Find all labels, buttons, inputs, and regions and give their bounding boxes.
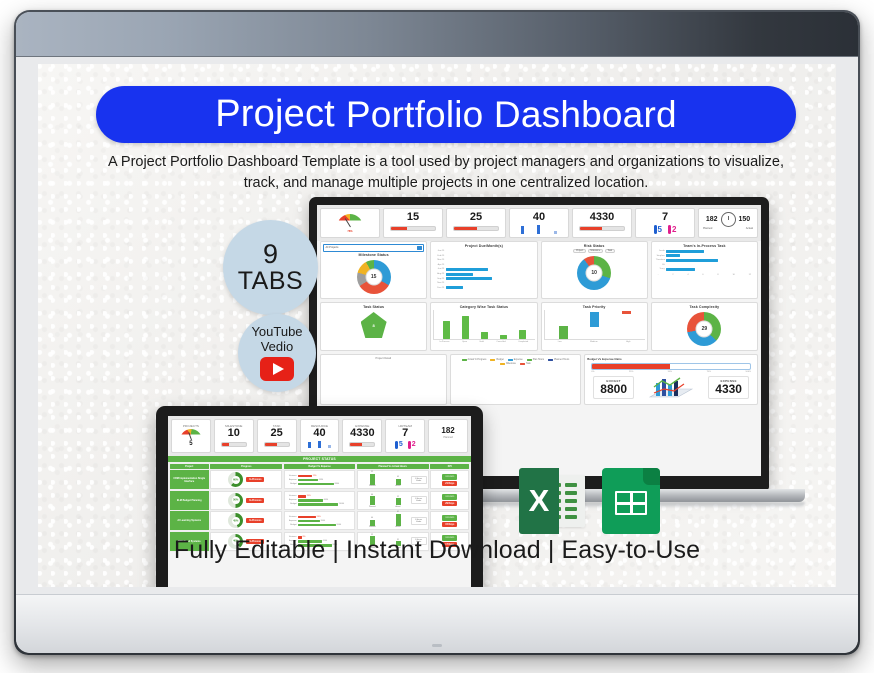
- task-status-shape: 8: [361, 312, 387, 338]
- panel-project-due: Project Due/Month(s) Jan-25 Feb-25 Mar-2…: [430, 241, 537, 300]
- progress-tag: In-Process: [246, 477, 264, 482]
- planned-hours: 182: [706, 216, 718, 223]
- milestone-donut-chart: 15: [323, 258, 424, 296]
- table-row[interactable]: 12/1/2025 15 Days: [430, 511, 469, 530]
- female-count: 2: [412, 441, 416, 448]
- task-complexity-chart: 29: [654, 310, 755, 348]
- gauge-icon: [337, 214, 363, 227]
- kpi-card[interactable]: 78%: [320, 208, 380, 238]
- hours-tag: 0 Hours Under: [411, 496, 427, 504]
- male-count: 5: [399, 441, 403, 448]
- female-count: 2: [672, 225, 676, 234]
- kpi-card[interactable]: 40: [509, 208, 569, 238]
- kpi-card[interactable]: MILESTONE 10: [214, 419, 254, 453]
- tagline: Fully Editable | Instant Download | Easy…: [38, 536, 836, 565]
- budget-expense-row: BUDGET 8800: [587, 373, 755, 402]
- panel-detail: Project Detail: [320, 354, 447, 405]
- progress-value: 40%: [233, 540, 238, 543]
- female-icon: [408, 441, 411, 449]
- table-row[interactable]: Variance24% Expense3900 Budget9500: [284, 511, 356, 530]
- kpi-value: 25: [449, 212, 503, 224]
- table-row[interactable]: 44Planned 61Actual 0 Hours Under: [357, 511, 429, 530]
- task-status-chart: 8: [323, 310, 424, 340]
- donut-center-value: 15: [371, 274, 377, 280]
- kpi-value: 5: [174, 441, 208, 447]
- laptop-panel-row-1: All Projects Milestone Status 15: [317, 241, 761, 303]
- table-row[interactable]: Variance19% Expense4650 Budget11000: [284, 491, 356, 510]
- kpi-value: 7: [388, 428, 422, 440]
- monitor-top-bezel: [16, 12, 858, 57]
- risk-donut-chart: 10: [544, 254, 645, 292]
- goal-date: 12/1/2025: [442, 494, 457, 500]
- kpi-progress-bar: [221, 442, 247, 447]
- table-row[interactable]: ELM Budget Planning: [170, 491, 209, 510]
- panel-title: Project Due/Month(s): [433, 244, 534, 248]
- donut-ring: 10: [577, 256, 611, 290]
- table-row[interactable]: 66Planned 52Actual 0 Hours Under: [357, 491, 429, 510]
- kpi-value: 7: [638, 212, 692, 224]
- clock-icon: [721, 212, 736, 227]
- youtube-line2: Vedio: [261, 340, 294, 355]
- panel-task-complexity: Task Complexity 29: [651, 302, 758, 351]
- project-selector[interactable]: All Projects: [323, 244, 424, 252]
- kpi-sublabel: Planned: [431, 436, 465, 439]
- legend-item: Plan Hours: [527, 359, 544, 361]
- table-row[interactable]: 12/1/2025 21 Days: [430, 470, 469, 489]
- progress-ring: 60%: [228, 472, 243, 487]
- legend-item: Budget: [490, 359, 503, 361]
- panel-title: Milestone Status: [323, 253, 424, 257]
- legend-item: Actual % Progress: [462, 359, 487, 361]
- radio-milestone[interactable]: Milestone: [588, 249, 603, 254]
- chart-illustration-icon: [648, 375, 694, 401]
- kpi-minibars: [512, 224, 566, 234]
- column-header: Budget Vs Expense: [284, 464, 356, 469]
- actual-hours: 150: [739, 216, 751, 223]
- excel-icon: X: [519, 468, 585, 534]
- column-header: Project: [170, 464, 209, 469]
- kpi-value: 4330: [575, 212, 629, 224]
- progress-tag: In-Process: [246, 518, 264, 523]
- kpi-card[interactable]: 7 5 2: [635, 208, 695, 238]
- kpi-progress-bar: [264, 442, 290, 447]
- panel-task-status: Task Status 8: [320, 302, 427, 351]
- panel-task-priority: Task Priority LowMediumHigh: [541, 302, 648, 351]
- panel-category-task: Category Wise Task Status: [430, 302, 537, 351]
- kpi-value: 40: [512, 212, 566, 224]
- table-row[interactable]: 12/1/2025 29 Days: [430, 491, 469, 510]
- column-header: Planned Vs Actual Hours: [357, 464, 429, 469]
- male-icon: [395, 441, 398, 449]
- title-bold: Project: [215, 93, 335, 136]
- laptop-bottom-row: Project Detail Actual % Progress Budget …: [317, 354, 761, 408]
- expense-box: EXPENSE 4330: [708, 376, 749, 399]
- kpi-progress-bar: [579, 226, 625, 231]
- column-header: KPI: [430, 464, 469, 469]
- risk-scope-options[interactable]: Project Milestone Task: [544, 249, 645, 254]
- page-title: Project Portfolio Dashboard: [96, 86, 796, 143]
- kpi-card[interactable]: 182 150 Planned Actua: [698, 208, 758, 238]
- kpi-progress-bar: [453, 226, 499, 231]
- kpi-value: 25: [260, 428, 294, 440]
- tabs-count: 9: [263, 241, 278, 268]
- donut-center-value: 29: [702, 326, 708, 332]
- excel-letter: X: [519, 468, 559, 534]
- kpi-days: 21 Days: [442, 481, 457, 486]
- kpi-card[interactable]: TASK 25: [257, 419, 297, 453]
- tabs-label: TABS: [238, 268, 303, 294]
- chart-legend: Actual % Progress Budget Expense Plan Ho…: [453, 357, 579, 366]
- category-task-chart: [433, 310, 534, 340]
- kpi-card[interactable]: 4330: [572, 208, 632, 238]
- poster-screen: Project Portfolio Dashboard A Project Po…: [38, 64, 836, 587]
- kpi-minibars: [303, 440, 337, 448]
- page-description: A Project Portfolio Dashboard Template i…: [100, 152, 792, 193]
- goal-date: 12/1/2025: [442, 474, 457, 480]
- kpi-card[interactable]: PROJECTS 5: [171, 419, 211, 453]
- progress-tag: In-Process: [246, 498, 264, 503]
- kpi-value: 10: [217, 428, 251, 440]
- progress-value: 60%: [233, 478, 238, 481]
- panel-title: Team's In-Process Task: [654, 244, 755, 248]
- panel-budget-expense: Budget Vs Expense Ratio 0% 25% 50% 75% 1…: [584, 354, 758, 405]
- legend-item: Task: [520, 363, 531, 365]
- team-task-chart: Jacob Stephen Theodore Eli Tracy -246810…: [654, 249, 755, 277]
- project-due-chart: Jan-25 Feb-25 Mar-25 Apr-25 Jun-25 Aug-2…: [433, 249, 534, 291]
- budget-box: BUDGET 8800: [593, 376, 634, 399]
- file-format-icons: X: [519, 468, 660, 534]
- male-count: 5: [658, 225, 662, 234]
- legend-item: Milestone: [500, 363, 516, 365]
- kpi-value: 182: [431, 427, 465, 435]
- female-icon: [668, 225, 671, 234]
- table-row[interactable]: CRM Implementation Single Interface: [170, 470, 209, 489]
- kpi-days: 29 Days: [442, 501, 457, 506]
- legend-item: Expense: [508, 359, 523, 361]
- radio-task[interactable]: Task: [605, 249, 615, 254]
- donut-ring: 29: [687, 312, 721, 346]
- table-row[interactable]: AI Learning Systems: [170, 511, 209, 530]
- kpi-value: 15: [386, 212, 440, 224]
- table-row[interactable]: 60% In-Process: [210, 470, 282, 489]
- kpi-card[interactable]: 15: [383, 208, 443, 238]
- table-row[interactable]: Variance11% Expense4330 Budget8800: [284, 470, 356, 489]
- kpi-gauge-value: 78%: [323, 230, 377, 233]
- kpi-card[interactable]: EXPENSE 4330: [342, 419, 382, 453]
- panel-legend: Actual % Progress Budget Expense Plan Ho…: [450, 354, 582, 405]
- progress-value: 45%: [233, 519, 238, 522]
- kpi-card[interactable]: 25: [446, 208, 506, 238]
- hours-tag: 0 Hours Under: [411, 476, 427, 484]
- chevron-down-icon: [417, 246, 422, 250]
- title-light: Portfolio Dashboard: [346, 94, 677, 136]
- budget-value: 8800: [600, 383, 627, 396]
- panel-title: Budget Vs Expense Ratio: [587, 357, 755, 361]
- badge-youtube[interactable]: YouTube Vedio: [238, 314, 316, 392]
- laptop-kpi-row: 78% 15 25: [317, 205, 761, 241]
- project-status-title: PROJECT STATUS: [168, 456, 471, 463]
- donut-ring: 15: [357, 260, 391, 294]
- youtube-line1: YouTube: [251, 325, 302, 340]
- table-row[interactable]: 45% In-Process: [210, 511, 282, 530]
- project-selector-value: All Projects: [326, 246, 339, 249]
- progress-ring: 45%: [228, 513, 243, 528]
- kpi-value: 40: [303, 428, 337, 440]
- poster-canvas: Project Portfolio Dashboard A Project Po…: [0, 0, 874, 673]
- monitor-bottom-bezel: [16, 594, 858, 653]
- kpi-card[interactable]: RESOURCE 40: [300, 419, 340, 453]
- panel-title: Risk Status: [544, 244, 645, 248]
- expense-value: 4330: [715, 383, 742, 396]
- table-row[interactable]: 92Planned 45Actual 0 Hours Under: [357, 470, 429, 489]
- monitor-notch: [432, 644, 442, 647]
- panel-risk-status: Risk Status Project Milestone Task: [541, 241, 648, 300]
- column-header: Progress: [210, 464, 282, 469]
- goal-date: 12/1/2025: [442, 515, 457, 521]
- donut-center-value: 10: [591, 270, 597, 276]
- task-priority-chart: [544, 310, 645, 340]
- budget-ratio-bar: [591, 363, 751, 370]
- progress-ring: 50%: [228, 493, 243, 508]
- kpi-value: 4330: [345, 428, 379, 440]
- kpi-days: 15 Days: [442, 522, 457, 527]
- progress-value: 50%: [233, 499, 238, 502]
- panel-title: Category Wise Task Status: [433, 305, 534, 309]
- panel-title: Task Status: [323, 305, 424, 309]
- kpi-card[interactable]: HR/TEAM 7 5: [385, 419, 425, 453]
- youtube-play-icon[interactable]: [260, 357, 294, 381]
- monitor-inner: Project Portfolio Dashboard A Project Po…: [16, 12, 858, 653]
- panel-title: Task Complexity: [654, 305, 755, 309]
- hours-tag: 0 Hours Under: [411, 517, 427, 525]
- panel-team-task: Team's In-Process Task Jacob Stephen The…: [651, 241, 758, 300]
- google-sheets-icon: [602, 468, 660, 534]
- table-row[interactable]: 50% In-Process: [210, 491, 282, 510]
- radio-project[interactable]: Project: [573, 249, 585, 254]
- tablet-kpi-row: PROJECTS 5: [168, 416, 471, 456]
- gauge-icon: [180, 429, 202, 440]
- kpi-progress-bar: [390, 226, 436, 231]
- panel-milestone-status: All Projects Milestone Status 15: [320, 241, 427, 300]
- laptop-panel-row-2: Task Status 8 Category Wise Task Status: [317, 302, 761, 354]
- kpi-card[interactable]: 182 Planned: [428, 419, 468, 453]
- monitor-frame: Project Portfolio Dashboard A Project Po…: [14, 10, 860, 655]
- panel-title: Task Priority: [544, 305, 645, 309]
- badge-tabs[interactable]: 9 TABS: [223, 220, 318, 315]
- legend-item: Planned Hours: [548, 359, 569, 361]
- male-icon: [654, 225, 657, 234]
- kpi-progress-bar: [349, 442, 375, 447]
